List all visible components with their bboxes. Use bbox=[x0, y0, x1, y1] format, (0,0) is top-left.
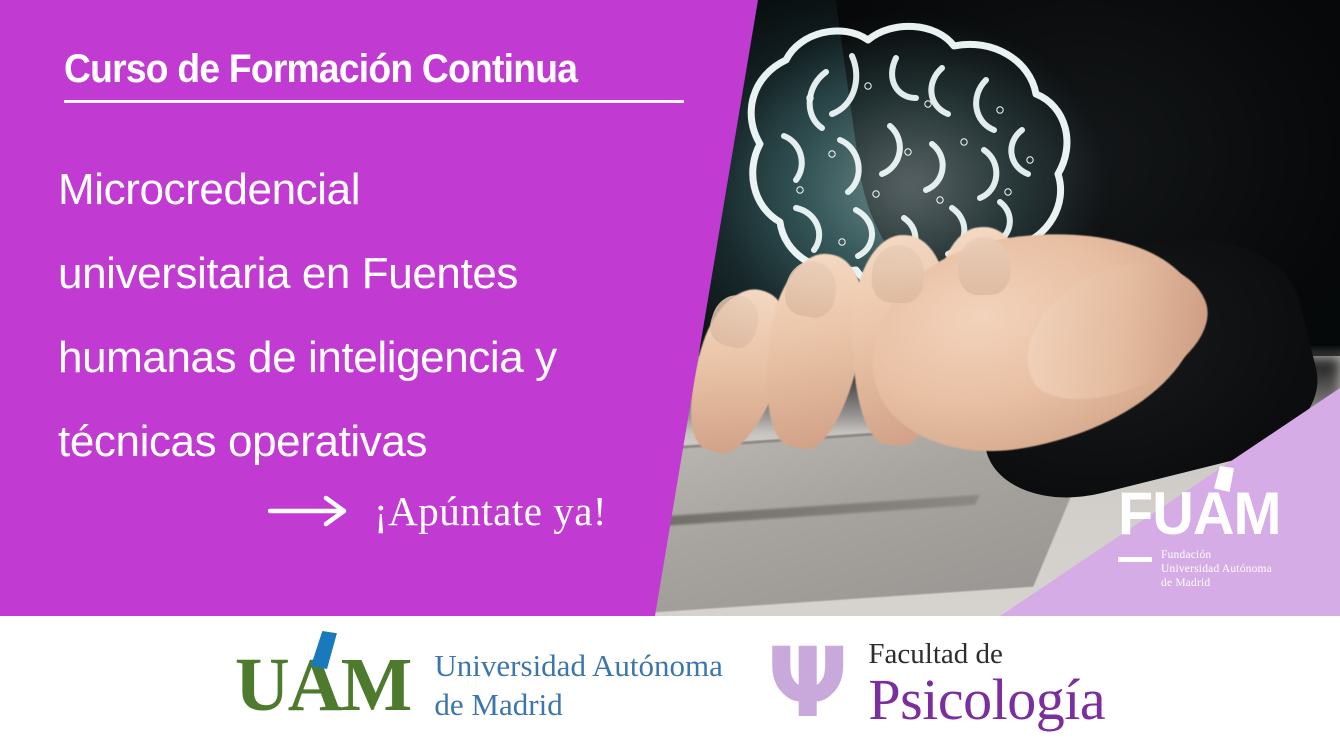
psicologia-main-line: Psicología bbox=[868, 669, 1105, 731]
title-line-1: Microcredencial bbox=[58, 148, 678, 232]
cta-label[interactable]: ¡Apúntate ya! bbox=[374, 487, 607, 535]
fuam-subtitle-line-3: de Madrid bbox=[1161, 576, 1272, 590]
fuam-logo: FUAM Fundación Universidad Autónoma de M… bbox=[1118, 484, 1318, 590]
psicologia-logo: Ψ Facultad de Psicología bbox=[767, 639, 1105, 731]
fuam-subtitle: Fundación Universidad Autónoma de Madrid bbox=[1161, 548, 1272, 590]
footer-logos: UAM Universidad Autónoma de Madrid Ψ Fac… bbox=[0, 616, 1340, 754]
title-line-4: técnicas operativas bbox=[58, 400, 678, 484]
fuam-subtitle-line-2: Universidad Autónoma bbox=[1161, 562, 1272, 576]
fuam-subtitle-row: Fundación Universidad Autónoma de Madrid bbox=[1118, 548, 1318, 590]
uam-wordmark-block: UAM bbox=[235, 647, 411, 723]
kicker-block: Curso de Formación Continua bbox=[64, 46, 684, 103]
footer-band: UAM Universidad Autónoma de Madrid Ψ Fac… bbox=[0, 616, 1340, 754]
kicker-text: Curso de Formación Continua bbox=[64, 46, 641, 92]
psicologia-text-block: Facultad de Psicología bbox=[868, 639, 1105, 731]
uam-logo: UAM Universidad Autónoma de Madrid bbox=[235, 646, 723, 724]
open-hand-icon bbox=[690, 195, 1250, 495]
title-line-3: humanas de inteligencia y bbox=[58, 316, 678, 400]
title-line-2: universitaria en Fuentes bbox=[58, 232, 678, 316]
cta-block[interactable]: ¡Apúntate ya! bbox=[268, 487, 607, 535]
psicologia-top-line: Facultad de bbox=[868, 639, 1105, 669]
fuam-dash-icon bbox=[1118, 557, 1152, 562]
long-right-arrow-icon bbox=[268, 494, 352, 528]
fuam-subtitle-line-1: Fundación bbox=[1161, 548, 1272, 562]
uam-text-line-2: de Madrid bbox=[434, 685, 722, 724]
uam-text-line-1: Universidad Autónoma bbox=[434, 646, 722, 685]
page-title: Microcredencial universitaria en Fuentes… bbox=[58, 148, 678, 484]
uam-text-block: Universidad Autónoma de Madrid bbox=[434, 646, 722, 724]
promotional-poster: Curso de Formación Continua Microcredenc… bbox=[0, 0, 1340, 754]
fuam-mark: FUAM bbox=[1118, 484, 1318, 546]
kicker-underline bbox=[64, 100, 684, 103]
fuam-wordmark: FUAM bbox=[1118, 484, 1310, 544]
psi-symbol-icon: Ψ bbox=[767, 643, 849, 723]
